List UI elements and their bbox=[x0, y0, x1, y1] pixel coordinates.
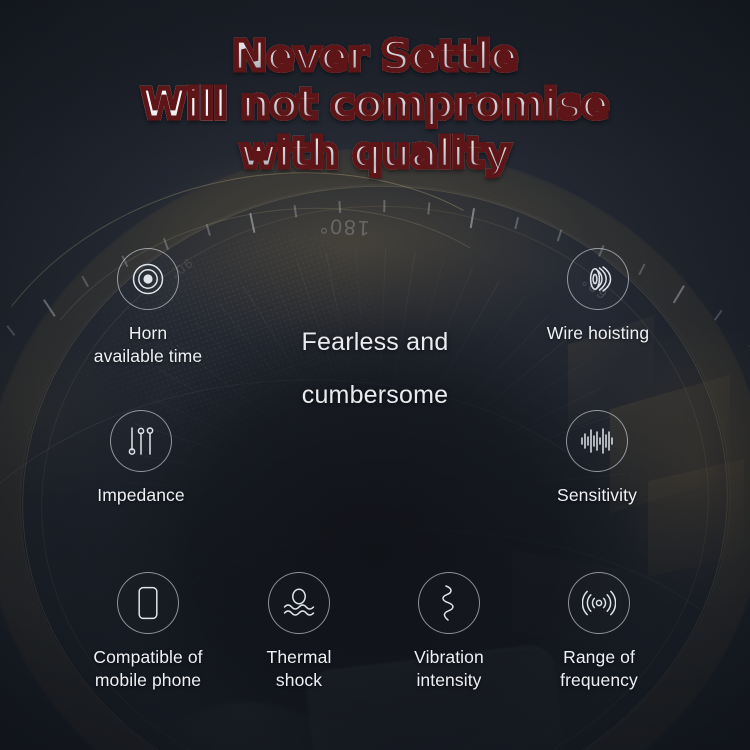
feature-icon-frame bbox=[567, 248, 629, 310]
feature-icon-frame bbox=[268, 572, 330, 634]
feature-impedance[interactable]: Impedance bbox=[46, 410, 236, 507]
thermal-waves-icon bbox=[282, 587, 316, 619]
feature-horn-available-time[interactable]: Horn available time bbox=[53, 248, 243, 368]
feature-icon-frame bbox=[418, 572, 480, 634]
feature-wire-hoisting[interactable]: Wire hoisting bbox=[503, 248, 693, 345]
feature-frequency-range[interactable]: Range of frequency bbox=[504, 572, 694, 692]
feature-label: Range of frequency bbox=[504, 646, 694, 692]
feature-icon-frame bbox=[566, 410, 628, 472]
feature-icon-frame bbox=[117, 572, 179, 634]
poster-canvas: 180° 60° 90° Never Settle Will not compr… bbox=[0, 0, 750, 750]
feature-label: Wire hoisting bbox=[503, 322, 693, 345]
slider-equalizer-icon bbox=[127, 426, 155, 456]
feature-icon-frame bbox=[568, 572, 630, 634]
headline-line-2-rest: not compromise bbox=[227, 80, 608, 128]
headline-line-2: Will not compromise bbox=[0, 80, 750, 128]
headline-line-3: with quality bbox=[0, 129, 750, 177]
feature-label: Horn available time bbox=[53, 322, 243, 368]
concentric-speaker-icon bbox=[131, 262, 165, 296]
wire-coil-icon bbox=[582, 263, 614, 295]
dial-degree-label-1: 180° bbox=[317, 213, 370, 240]
feature-sensitivity[interactable]: Sensitivity bbox=[502, 410, 692, 507]
waveform-bars-icon bbox=[580, 427, 614, 455]
feature-icon-frame bbox=[110, 410, 172, 472]
radio-signal-icon bbox=[582, 588, 616, 618]
center-subheadline-line-2: cumbersome bbox=[0, 383, 750, 408]
headline-line-1: Never Settle bbox=[0, 32, 750, 80]
headline-line-2-emphasis: Will bbox=[141, 80, 227, 128]
vibration-squiggle-icon bbox=[439, 585, 459, 621]
feature-label: Impedance bbox=[46, 484, 236, 507]
headline-block: Never Settle Will not compromise with qu… bbox=[0, 32, 750, 177]
mobile-phone-icon bbox=[137, 586, 159, 620]
feature-label: Sensitivity bbox=[502, 484, 692, 507]
feature-icon-frame bbox=[117, 248, 179, 310]
